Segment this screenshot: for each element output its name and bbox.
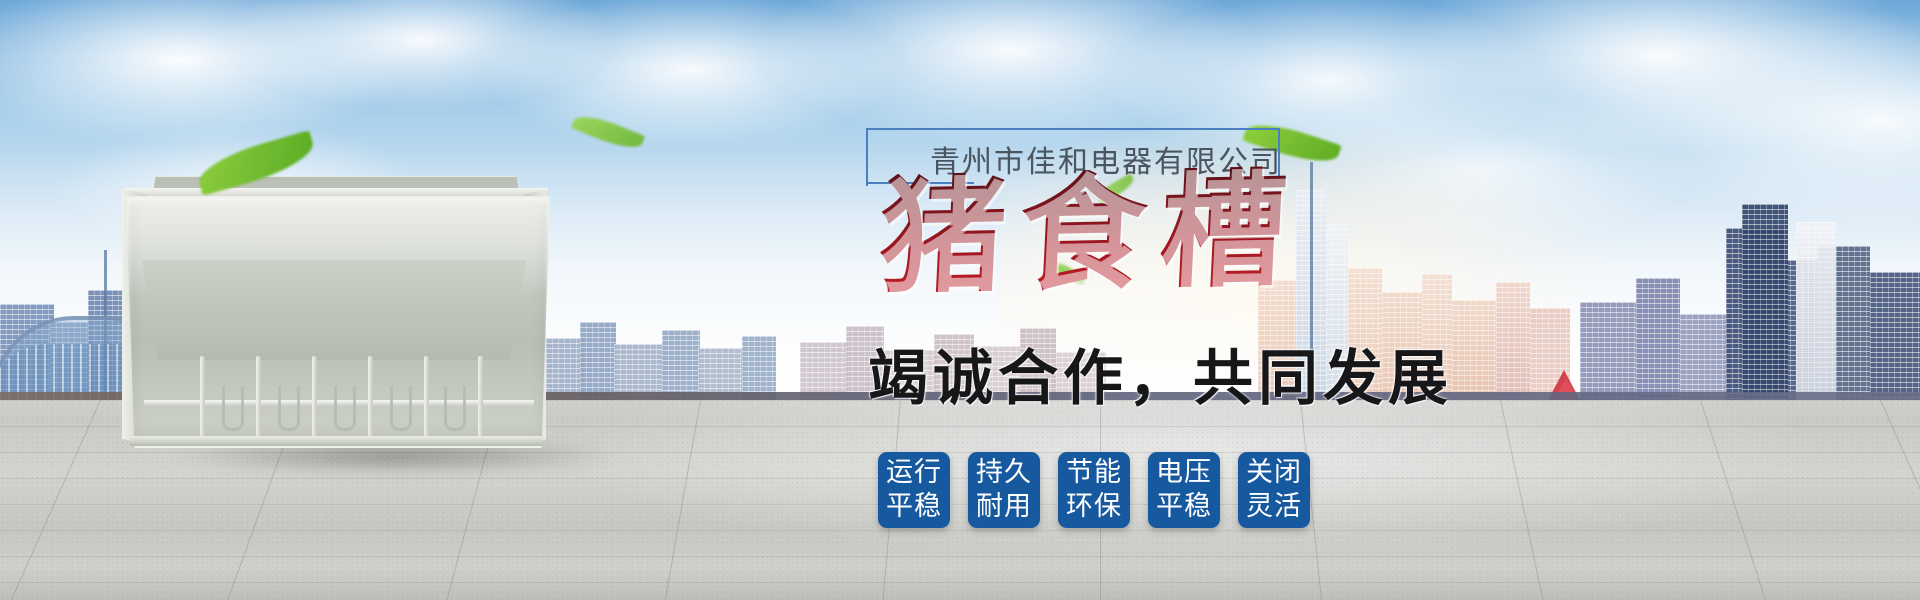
- feature-badge-line2: 耐用: [976, 490, 1032, 524]
- feature-badge[interactable]: 电压 平稳: [1148, 452, 1220, 528]
- trough-divider: [256, 356, 261, 436]
- trough-divider: [312, 356, 317, 436]
- promo-banner: 青州市佳和电器有限公司 猪食槽 竭诚合作，共同发展 运行 平稳 持久 耐用 节能…: [0, 0, 1920, 600]
- feature-badge-line1: 电压: [1156, 456, 1212, 490]
- trough-top-rail: [124, 188, 548, 197]
- feature-badge-line1: 关闭: [1246, 456, 1302, 490]
- feature-badge-line1: 运行: [886, 456, 942, 490]
- trough-feed-hoop: [222, 386, 244, 431]
- feature-badge-line2: 平稳: [1156, 490, 1212, 524]
- trough-inner-slope: [138, 260, 530, 360]
- slogan: 竭诚合作，共同发展: [868, 348, 1453, 410]
- trough-divider: [200, 356, 205, 436]
- trough-divider: [478, 356, 483, 436]
- trough-bottom-rail: [130, 436, 542, 446]
- feature-badge-line2: 平稳: [886, 490, 942, 524]
- feature-badge-line2: 环保: [1066, 490, 1122, 524]
- feature-badge[interactable]: 关闭 灵活: [1238, 452, 1310, 528]
- feature-badge-line1: 持久: [976, 456, 1032, 490]
- feature-badge[interactable]: 运行 平稳: [878, 452, 950, 528]
- feature-badge-line1: 节能: [1066, 456, 1122, 490]
- feature-badge[interactable]: 节能 环保: [1058, 452, 1130, 528]
- product-image-pig-feeder-trough: [86, 168, 556, 453]
- trough-feed-hoop: [444, 386, 466, 431]
- feature-badge[interactable]: 持久 耐用: [968, 452, 1040, 528]
- trough-feed-hoop: [334, 386, 356, 431]
- trough-feed-hoop: [278, 386, 300, 431]
- trough-divider: [368, 356, 373, 436]
- page-title: 猪食槽: [877, 166, 1304, 301]
- trough-feed-hoop: [390, 386, 412, 431]
- feature-badge-list: 运行 平稳 持久 耐用 节能 环保 电压 平稳 关闭 灵活: [878, 452, 1310, 528]
- feature-badge-line2: 灵活: [1246, 490, 1302, 524]
- trough-divider: [424, 356, 429, 436]
